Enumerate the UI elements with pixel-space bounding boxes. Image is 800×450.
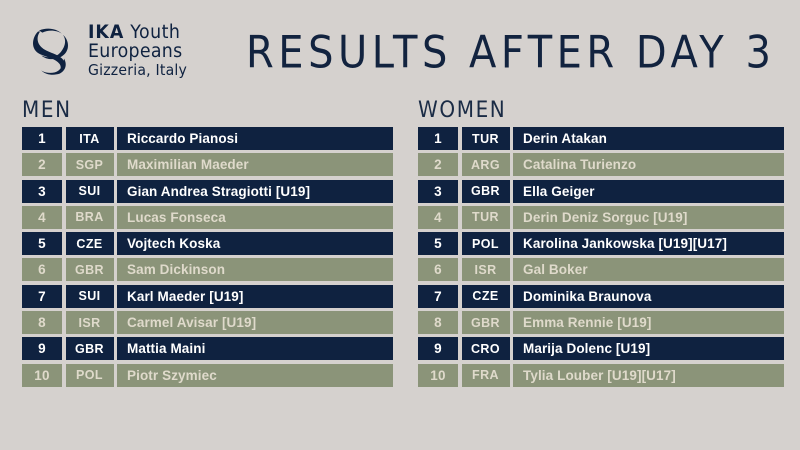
athlete-name-cell: Derin Deniz Sorguc [U19] [513, 206, 784, 229]
country-cell: POL [462, 232, 510, 255]
country-cell: GBR [66, 337, 114, 360]
logo-wordmark: IKA Youth Europeans Gizzeria, Italy [88, 24, 193, 78]
table-row: 3GBRElla Geiger [418, 180, 784, 203]
country-cell: SUI [66, 285, 114, 308]
table-row: 6ISRGal Boker [418, 258, 784, 281]
rank-cell: 7 [22, 285, 62, 308]
table-row: 4TURDerin Deniz Sorguc [U19] [418, 206, 784, 229]
women-results-table: 1TURDerin Atakan2ARGCatalina Turienzo3GB… [418, 127, 784, 387]
athlete-name-cell: Maximilian Maeder [117, 153, 393, 176]
men-results-table: 1ITARiccardo Pianosi2SGPMaximilian Maede… [22, 127, 393, 387]
country-cell: CRO [462, 337, 510, 360]
logo-youth: Youth [124, 22, 180, 43]
athlete-name-cell: Vojtech Koska [117, 232, 393, 255]
athlete-name-cell: Emma Rennie [U19] [513, 311, 784, 334]
table-row: 9GBRMattia Maini [22, 337, 393, 360]
rank-cell: 5 [418, 232, 458, 255]
athlete-name-cell: Riccardo Pianosi [117, 127, 393, 150]
women-results-column: WOMEN 1TURDerin Atakan2ARGCatalina Turie… [418, 96, 784, 387]
country-cell: TUR [462, 206, 510, 229]
table-row: 4BRALucas Fonseca [22, 206, 393, 229]
country-cell: CZE [66, 232, 114, 255]
athlete-name-cell: Karolina Jankowska [U19][U17] [513, 232, 784, 255]
rank-cell: 2 [22, 153, 62, 176]
rank-cell: 4 [22, 206, 62, 229]
rank-cell: 9 [22, 337, 62, 360]
table-row: 1ITARiccardo Pianosi [22, 127, 393, 150]
rank-cell: 6 [418, 258, 458, 281]
rank-cell: 5 [22, 232, 62, 255]
athlete-name-cell: Karl Maeder [U19] [117, 285, 393, 308]
country-cell: TUR [462, 127, 510, 150]
rank-cell: 10 [418, 364, 458, 387]
athlete-name-cell: Lucas Fonseca [117, 206, 393, 229]
rank-cell: 2 [418, 153, 458, 176]
rank-cell: 1 [418, 127, 458, 150]
rank-cell: 10 [22, 364, 62, 387]
athlete-name-cell: Gal Boker [513, 258, 784, 281]
country-cell: ARG [462, 153, 510, 176]
table-row: 2SGPMaximilian Maeder [22, 153, 393, 176]
table-row: 10POLPiotr Szymiec [22, 364, 393, 387]
rank-cell: 7 [418, 285, 458, 308]
rank-cell: 3 [22, 180, 62, 203]
women-heading: WOMEN [418, 96, 784, 127]
table-row: 5POLKarolina Jankowska [U19][U17] [418, 232, 784, 255]
athlete-name-cell: Marija Dolenc [U19] [513, 337, 784, 360]
table-row: 2ARGCatalina Turienzo [418, 153, 784, 176]
country-cell: POL [66, 364, 114, 387]
athlete-name-cell: Carmel Avisar [U19] [117, 311, 393, 334]
country-cell: FRA [462, 364, 510, 387]
rank-cell: 8 [22, 311, 62, 334]
athlete-name-cell: Sam Dickinson [117, 258, 393, 281]
rank-cell: 1 [22, 127, 62, 150]
table-row: 6GBRSam Dickinson [22, 258, 393, 281]
country-cell: GBR [66, 258, 114, 281]
men-results-column: MEN 1ITARiccardo Pianosi2SGPMaximilian M… [22, 96, 393, 387]
country-cell: SGP [66, 153, 114, 176]
table-row: 7SUIKarl Maeder [U19] [22, 285, 393, 308]
rank-cell: 8 [418, 311, 458, 334]
rank-cell: 3 [418, 180, 458, 203]
header: IKA Youth Europeans Gizzeria, Italy RESU… [0, 0, 800, 96]
country-cell: BRA [66, 206, 114, 229]
table-row: 5CZEVojtech Koska [22, 232, 393, 255]
athlete-name-cell: Derin Atakan [513, 127, 784, 150]
athlete-name-cell: Tylia Louber [U19][U17] [513, 364, 784, 387]
country-cell: ITA [66, 127, 114, 150]
athlete-name-cell: Mattia Maini [117, 337, 393, 360]
country-cell: CZE [462, 285, 510, 308]
men-heading: MEN [22, 96, 393, 127]
country-cell: SUI [66, 180, 114, 203]
athlete-name-cell: Dominika Braunova [513, 285, 784, 308]
table-row: 3SUIGian Andrea Stragiotti [U19] [22, 180, 393, 203]
table-row: 8ISRCarmel Avisar [U19] [22, 311, 393, 334]
athlete-name-cell: Gian Andrea Stragiotti [U19] [117, 180, 393, 203]
rank-cell: 4 [418, 206, 458, 229]
table-row: 10FRATylia Louber [U19][U17] [418, 364, 784, 387]
rank-cell: 6 [22, 258, 62, 281]
athlete-name-cell: Catalina Turienzo [513, 153, 784, 176]
ika-swirl-logo-icon [24, 24, 78, 78]
table-row: 7CZEDominika Braunova [418, 285, 784, 308]
logo-line-2: Europeans [88, 43, 187, 62]
athlete-name-cell: Ella Geiger [513, 180, 784, 203]
logo-line-3: Gizzeria, Italy [88, 63, 187, 78]
country-cell: ISR [66, 311, 114, 334]
logo-ika: IKA [88, 22, 124, 43]
country-cell: GBR [462, 180, 510, 203]
table-row: 8GBREmma Rennie [U19] [418, 311, 784, 334]
event-logo: IKA Youth Europeans Gizzeria, Italy [24, 24, 193, 78]
country-cell: ISR [462, 258, 510, 281]
table-row: 1TURDerin Atakan [418, 127, 784, 150]
rank-cell: 9 [418, 337, 458, 360]
table-row: 9CROMarija Dolenc [U19] [418, 337, 784, 360]
country-cell: GBR [462, 311, 510, 334]
athlete-name-cell: Piotr Szymiec [117, 364, 393, 387]
page-title: RESULTS AFTER DAY 3 [246, 27, 775, 79]
